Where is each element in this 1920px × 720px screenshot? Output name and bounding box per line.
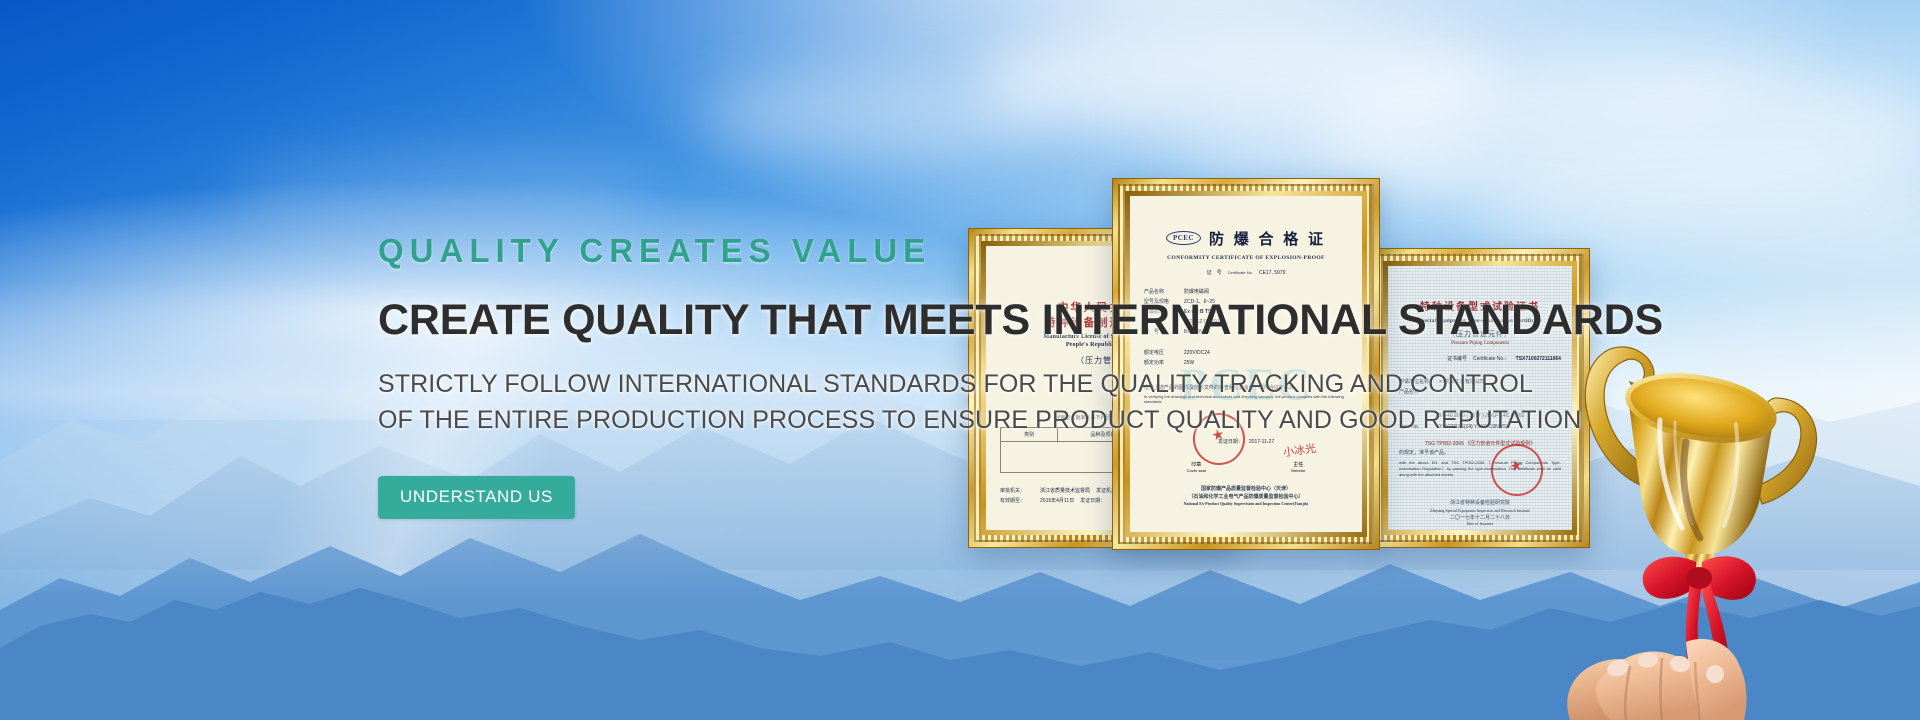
hero-subtitle-line-1: STRICTLY FOLLOW INTERNATIONAL STANDARDS … (378, 367, 1498, 403)
trophy-image (1490, 290, 1920, 720)
eyebrow-text: QUALITY CREATES VALUE (378, 232, 1498, 270)
hero-copy-block: QUALITY CREATES VALUE CREATE QUALITY THA… (378, 232, 1498, 519)
ribbon-knot (1686, 567, 1712, 589)
cloud-icon (230, 150, 650, 240)
hero-banner: 中华人民共和国 特种设备制造许可证 Manufacture License of… (0, 0, 1920, 720)
finger-crease (1661, 658, 1663, 720)
hero-subtitle: STRICTLY FOLLOW INTERNATIONAL STANDARDS … (378, 367, 1498, 438)
page-title: CREATE QUALITY THAT MEETS INTERNATIONAL … (378, 296, 1498, 345)
cloud-icon (700, 70, 1060, 160)
understand-us-button[interactable]: UNDERSTAND US (378, 476, 575, 519)
hero-subtitle-line-2: OF THE ENTIRE PRODUCTION PROCESS TO ENSU… (378, 403, 1498, 439)
